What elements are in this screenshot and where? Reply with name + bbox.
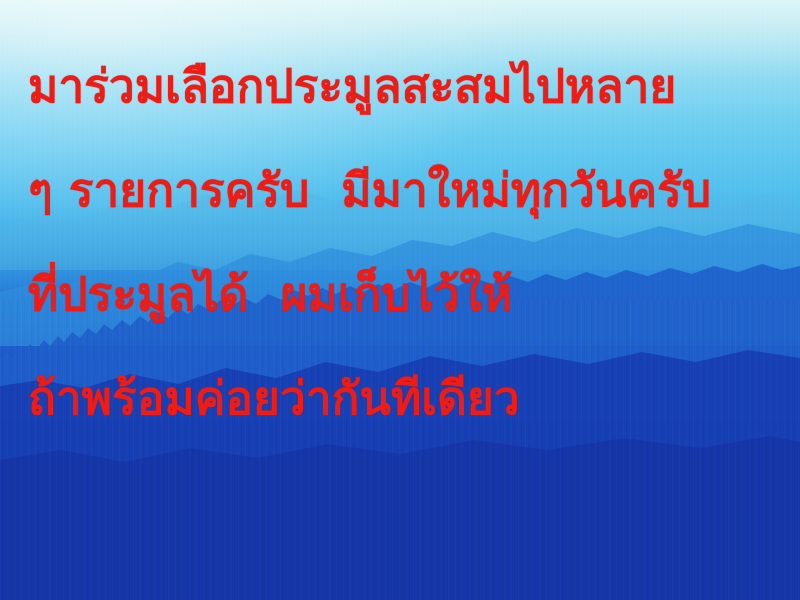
caption-line-2: ๆ รายการครับ มีมาใหม่ทุกวันครับ	[28, 138, 800, 242]
banner-image: มาร่วมเลือกประมูลสะสมไปหลาย ๆ รายการครับ…	[0, 0, 800, 600]
caption-line-4: ถ้าพร้อมค่อยว่ากันทีเดียว	[28, 346, 800, 450]
caption-line-3: ที่ประมูลได้ ผมเก็บไว้ให้	[28, 242, 800, 346]
caption-text-block: มาร่วมเลือกประมูลสะสมไปหลาย ๆ รายการครับ…	[0, 0, 800, 600]
caption-line-1: มาร่วมเลือกประมูลสะสมไปหลาย	[28, 34, 800, 138]
